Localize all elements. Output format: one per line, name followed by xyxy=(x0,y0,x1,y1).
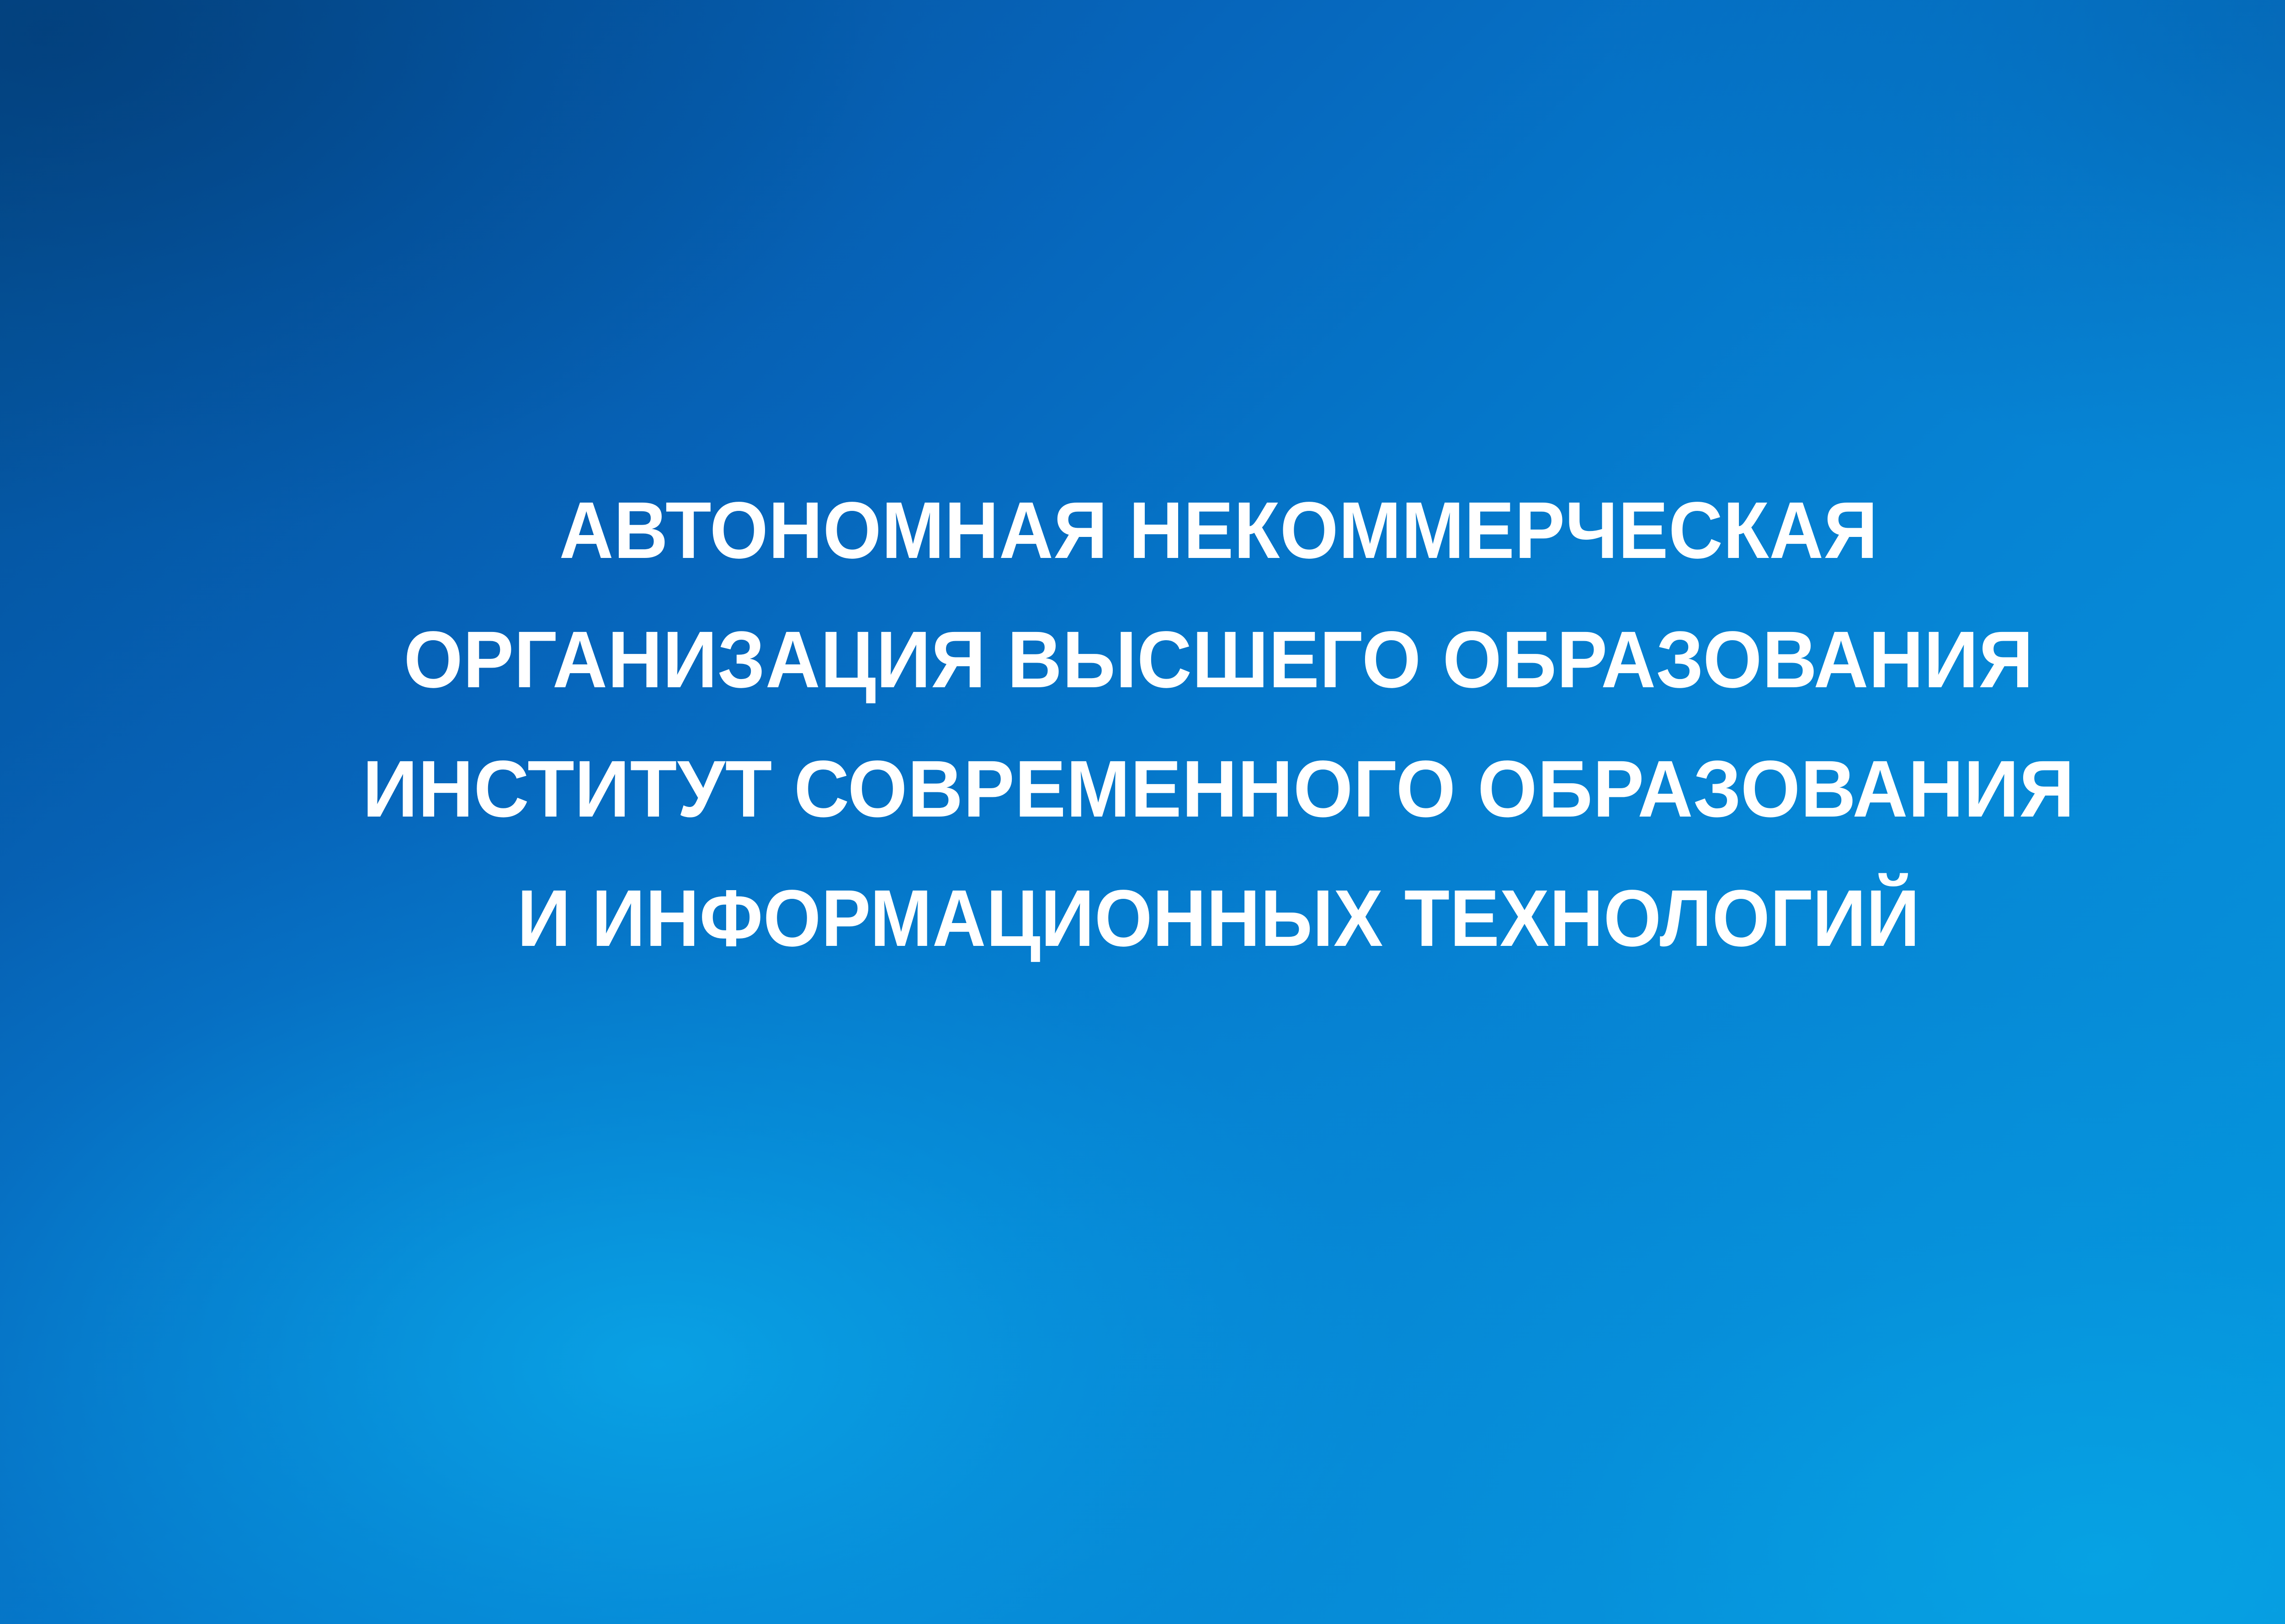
title-line-4: И ИНФОРМАЦИОННЫХ ТЕХНОЛОГИЙ xyxy=(167,854,2269,983)
title-line-1: АВТОНОМНАЯ НЕКОММЕРЧЕСКАЯ xyxy=(156,466,2281,595)
title-line-2: ОРГАНИЗАЦИЯ ВЫСШЕГО ОБРАЗОВАНИЯ xyxy=(145,595,2285,725)
title-line-3: ИНСТИТУТ СОВРЕМЕННОГО ОБРАЗОВАНИЯ xyxy=(133,725,2285,854)
title-slide: АВТОНОМНАЯ НЕКОММЕРЧЕСКАЯ ОРГАНИЗАЦИЯ ВЫ… xyxy=(0,0,2285,1624)
slide-title: АВТОНОМНАЯ НЕКОММЕРЧЕСКАЯ ОРГАНИЗАЦИЯ ВЫ… xyxy=(0,466,2285,983)
